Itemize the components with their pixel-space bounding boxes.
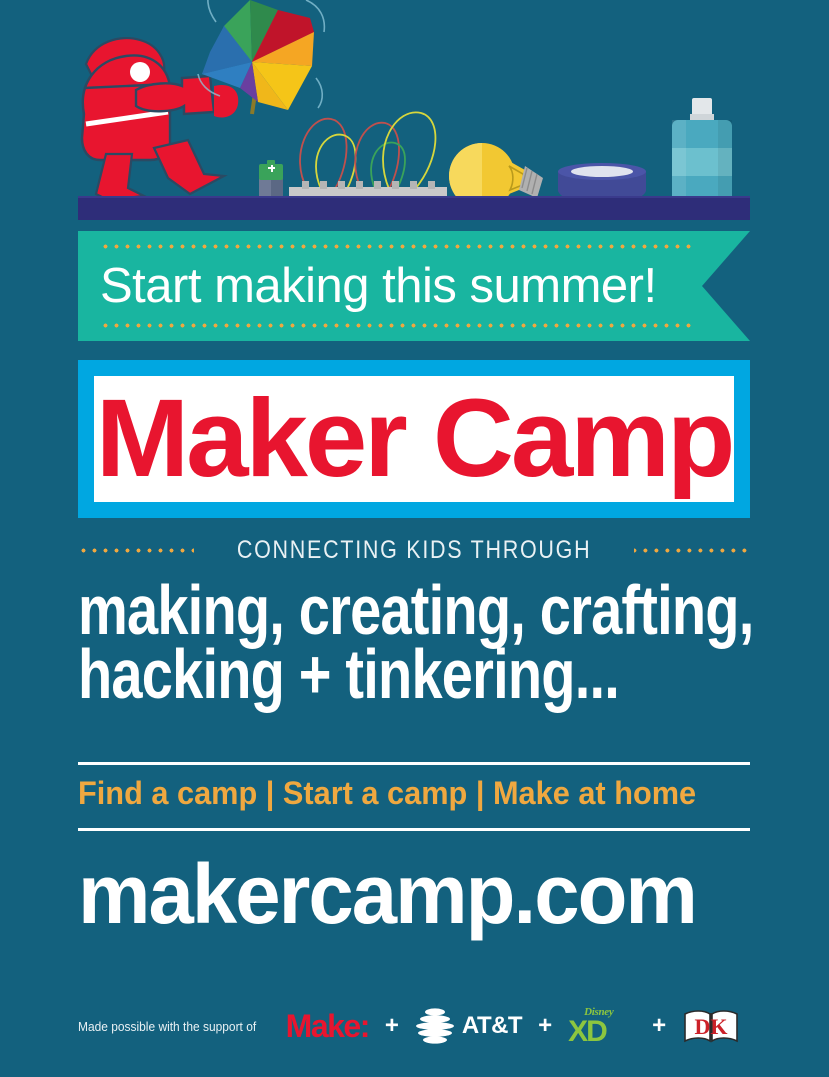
svg-text:DK: DK (695, 1014, 728, 1039)
plus-separator: + (538, 1014, 552, 1038)
website-url[interactable]: makercamp.com (78, 852, 757, 936)
maker-camp-logo: Maker Camp (78, 360, 750, 518)
headline-line-2: hacking + tinkering... (78, 642, 638, 706)
plus-separator: + (652, 1014, 666, 1038)
links-bar[interactable]: Find a camp | Start a camp | Make at hom… (78, 775, 723, 812)
glue-bottle-icon (672, 98, 732, 208)
support-text: Made possible with the support of (78, 1019, 256, 1034)
att-globe-icon (415, 1006, 455, 1046)
make-magazine-logo: Make: (286, 1010, 369, 1042)
links-rule-top (78, 762, 750, 765)
breadboard-pin (374, 181, 381, 189)
att-logo: AT&T (415, 1006, 522, 1046)
breadboard-pin (302, 181, 309, 189)
hero-illustration (0, 0, 829, 220)
dk-book-icon: DK (682, 1006, 740, 1046)
sponsor-footer: Made possible with the support of Make: … (78, 1003, 750, 1049)
maker-camp-poster: Start making this summer! Maker Camp CON… (0, 0, 829, 1077)
dk-logo: DK (682, 1006, 740, 1046)
breadboard-pin (356, 181, 363, 189)
kicker-text: CONNECTING KIDS THROUGH (237, 536, 592, 565)
att-label: AT&T (462, 1014, 522, 1038)
kicker-row: CONNECTING KIDS THROUGH (78, 535, 750, 565)
breadboard-pin (320, 181, 327, 189)
breadboard-pin (338, 181, 345, 189)
maker-camp-logo-text: Maker Camp (96, 384, 733, 494)
tagline-ribbon: Start making this summer! (78, 231, 750, 341)
links-rule-bottom (78, 828, 750, 831)
ribbon-dots-bottom (100, 323, 694, 328)
breadboard-pin (392, 181, 399, 189)
breadboard-pin (428, 181, 435, 189)
plus-separator: + (385, 1014, 399, 1038)
kicker-dots-left (78, 548, 194, 553)
ribbon-text: Start making this summer! (100, 258, 657, 314)
kicker-dots-right (634, 548, 750, 553)
headline-line-1: making, creating, crafting, (78, 578, 638, 642)
ribbon-dots-top (100, 244, 694, 249)
disney-xd-logo: Disney XD (568, 1006, 636, 1046)
maker-camp-logo-panel: Maker Camp (94, 376, 734, 502)
xd-letters: XD (568, 1017, 606, 1047)
headline: making, creating, crafting, hacking + ti… (78, 578, 638, 707)
breadboard-pin (410, 181, 417, 189)
shelf (78, 198, 750, 220)
